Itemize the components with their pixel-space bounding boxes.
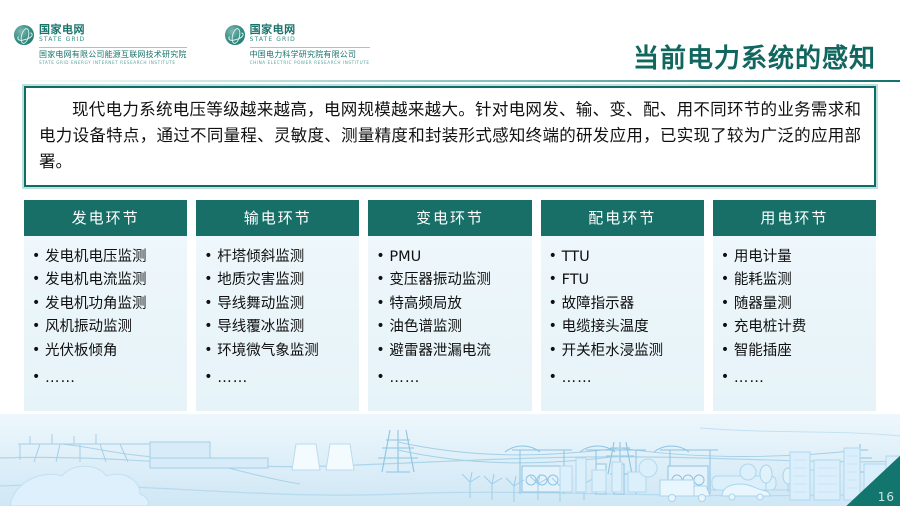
slide-canvas: 16 国家电网 STATE GRID 国家电网有限公司能源互联网技术研究院 ST…	[0, 0, 900, 506]
list-item: 智能插座	[721, 340, 870, 363]
column-list: TTU FTU 故障指示器 电缆接头温度 开关柜水浸监测 ……	[549, 246, 698, 391]
intro-paragraph-box: 现代电力系统电压等级越来越高，电网规模越来越大。针对电网发、输、变、配、用不同环…	[24, 86, 876, 187]
state-grid-globe-icon	[14, 25, 34, 45]
column-list: 发电机电压监测 发电机电流监测 发电机功角监测 风机振动监测 光伏板倾角 ……	[32, 246, 181, 391]
column-body: TTU FTU 故障指示器 电缆接头温度 开关柜水浸监测 ……	[541, 236, 704, 411]
column-header: 变电环节	[368, 200, 531, 236]
list-item: 故障指示器	[549, 293, 698, 316]
list-item: 电缆接头温度	[549, 316, 698, 339]
column-header: 用电环节	[713, 200, 876, 236]
list-item: 发电机电流监测	[32, 269, 181, 292]
column-header: 配电环节	[541, 200, 704, 236]
list-item-ellipsis: ……	[376, 367, 525, 390]
list-item-ellipsis: ……	[204, 367, 353, 390]
column-body: 杆塔倾斜监测 地质灾害监测 导线舞动监测 导线覆冰监测 环境微气象监测 ……	[196, 236, 359, 411]
title-underline	[0, 80, 900, 82]
list-item: 随器量测	[721, 293, 870, 316]
logo-institute-cn: 中国电力科学研究院有限公司	[250, 51, 370, 59]
column-generation: 发电环节 发电机电压监测 发电机电流监测 发电机功角监测 风机振动监测 光伏板倾…	[24, 200, 187, 411]
stage-columns: 发电环节 发电机电压监测 发电机电流监测 发电机功角监测 风机振动监测 光伏板倾…	[24, 200, 876, 411]
logo-cn-name: 国家电网	[250, 24, 370, 35]
list-item: 特高频局放	[376, 293, 525, 316]
logo-divider	[250, 47, 370, 48]
logo-en-name: STATE GRID	[39, 37, 187, 43]
logo-en-name: STATE GRID	[250, 37, 370, 43]
column-transmission: 输电环节 杆塔倾斜监测 地质灾害监测 导线舞动监测 导线覆冰监测 环境微气象监测…	[196, 200, 359, 411]
list-item: 地质灾害监测	[204, 269, 353, 292]
list-item: 杆塔倾斜监测	[204, 246, 353, 269]
list-item: 油色谱监测	[376, 316, 525, 339]
list-item: 发电机电压监测	[32, 246, 181, 269]
power-system-illustration-band	[0, 414, 900, 506]
logo-cn-name: 国家电网	[39, 24, 187, 35]
list-item: 能耗监测	[721, 269, 870, 292]
logo-cepri: 国家电网 STATE GRID 中国电力科学研究院有限公司 CHINA ELEC…	[225, 24, 370, 65]
logo-sgeiri: 国家电网 STATE GRID 国家电网有限公司能源互联网技术研究院 STATE…	[14, 24, 187, 65]
list-item-ellipsis: ……	[549, 367, 698, 390]
logo-institute-en: STATE GRID ENERGY INTERNET RESEARCH INST…	[39, 61, 187, 65]
column-header: 发电环节	[24, 200, 187, 236]
list-item: 风机振动监测	[32, 316, 181, 339]
column-list: PMU 变压器振动监测 特高频局放 油色谱监测 避雷器泄漏电流 ……	[376, 246, 525, 391]
logo-institute-en: CHINA ELECTRIC POWER RESEARCH INSTITUTE	[250, 61, 370, 65]
state-grid-globe-icon	[225, 25, 245, 45]
list-item: 光伏板倾角	[32, 340, 181, 363]
page-title: 当前电力系统的感知	[633, 38, 876, 75]
list-item: FTU	[549, 269, 698, 292]
logo-institute-cn: 国家电网有限公司能源互联网技术研究院	[39, 51, 187, 59]
column-body: PMU 变压器振动监测 特高频局放 油色谱监测 避雷器泄漏电流 ……	[368, 236, 531, 411]
column-body: 用电计量 能耗监测 随器量测 充电桩计费 智能插座 ……	[713, 236, 876, 411]
list-item: 发电机功角监测	[32, 293, 181, 316]
logo-group: 国家电网 STATE GRID 国家电网有限公司能源互联网技术研究院 STATE…	[14, 24, 370, 65]
list-item-ellipsis: ……	[721, 367, 870, 390]
column-header: 输电环节	[196, 200, 359, 236]
logo-divider	[39, 47, 187, 48]
list-item: PMU	[376, 246, 525, 269]
page-number: 16	[878, 490, 895, 504]
list-item: TTU	[549, 246, 698, 269]
list-item: 环境微气象监测	[204, 340, 353, 363]
column-substation: 变电环节 PMU 变压器振动监测 特高频局放 油色谱监测 避雷器泄漏电流 ……	[368, 200, 531, 411]
column-distribution: 配电环节 TTU FTU 故障指示器 电缆接头温度 开关柜水浸监测 ……	[541, 200, 704, 411]
illustration-svg	[0, 414, 900, 506]
list-item: 导线舞动监测	[204, 293, 353, 316]
column-body: 发电机电压监测 发电机电流监测 发电机功角监测 风机振动监测 光伏板倾角 ……	[24, 236, 187, 411]
list-item-ellipsis: ……	[32, 367, 181, 390]
list-item: 充电桩计费	[721, 316, 870, 339]
list-item: 变压器振动监测	[376, 269, 525, 292]
list-item: 导线覆冰监测	[204, 316, 353, 339]
page-number-corner: 16	[844, 454, 900, 506]
list-item: 开关柜水浸监测	[549, 340, 698, 363]
column-list: 用电计量 能耗监测 随器量测 充电桩计费 智能插座 ……	[721, 246, 870, 391]
list-item: 用电计量	[721, 246, 870, 269]
column-list: 杆塔倾斜监测 地质灾害监测 导线舞动监测 导线覆冰监测 环境微气象监测 ……	[204, 246, 353, 391]
list-item: 避雷器泄漏电流	[376, 340, 525, 363]
intro-paragraph-text: 现代电力系统电压等级越来越高，电网规模越来越大。针对电网发、输、变、配、用不同环…	[39, 97, 861, 175]
column-consumption: 用电环节 用电计量 能耗监测 随器量测 充电桩计费 智能插座 ……	[713, 200, 876, 411]
